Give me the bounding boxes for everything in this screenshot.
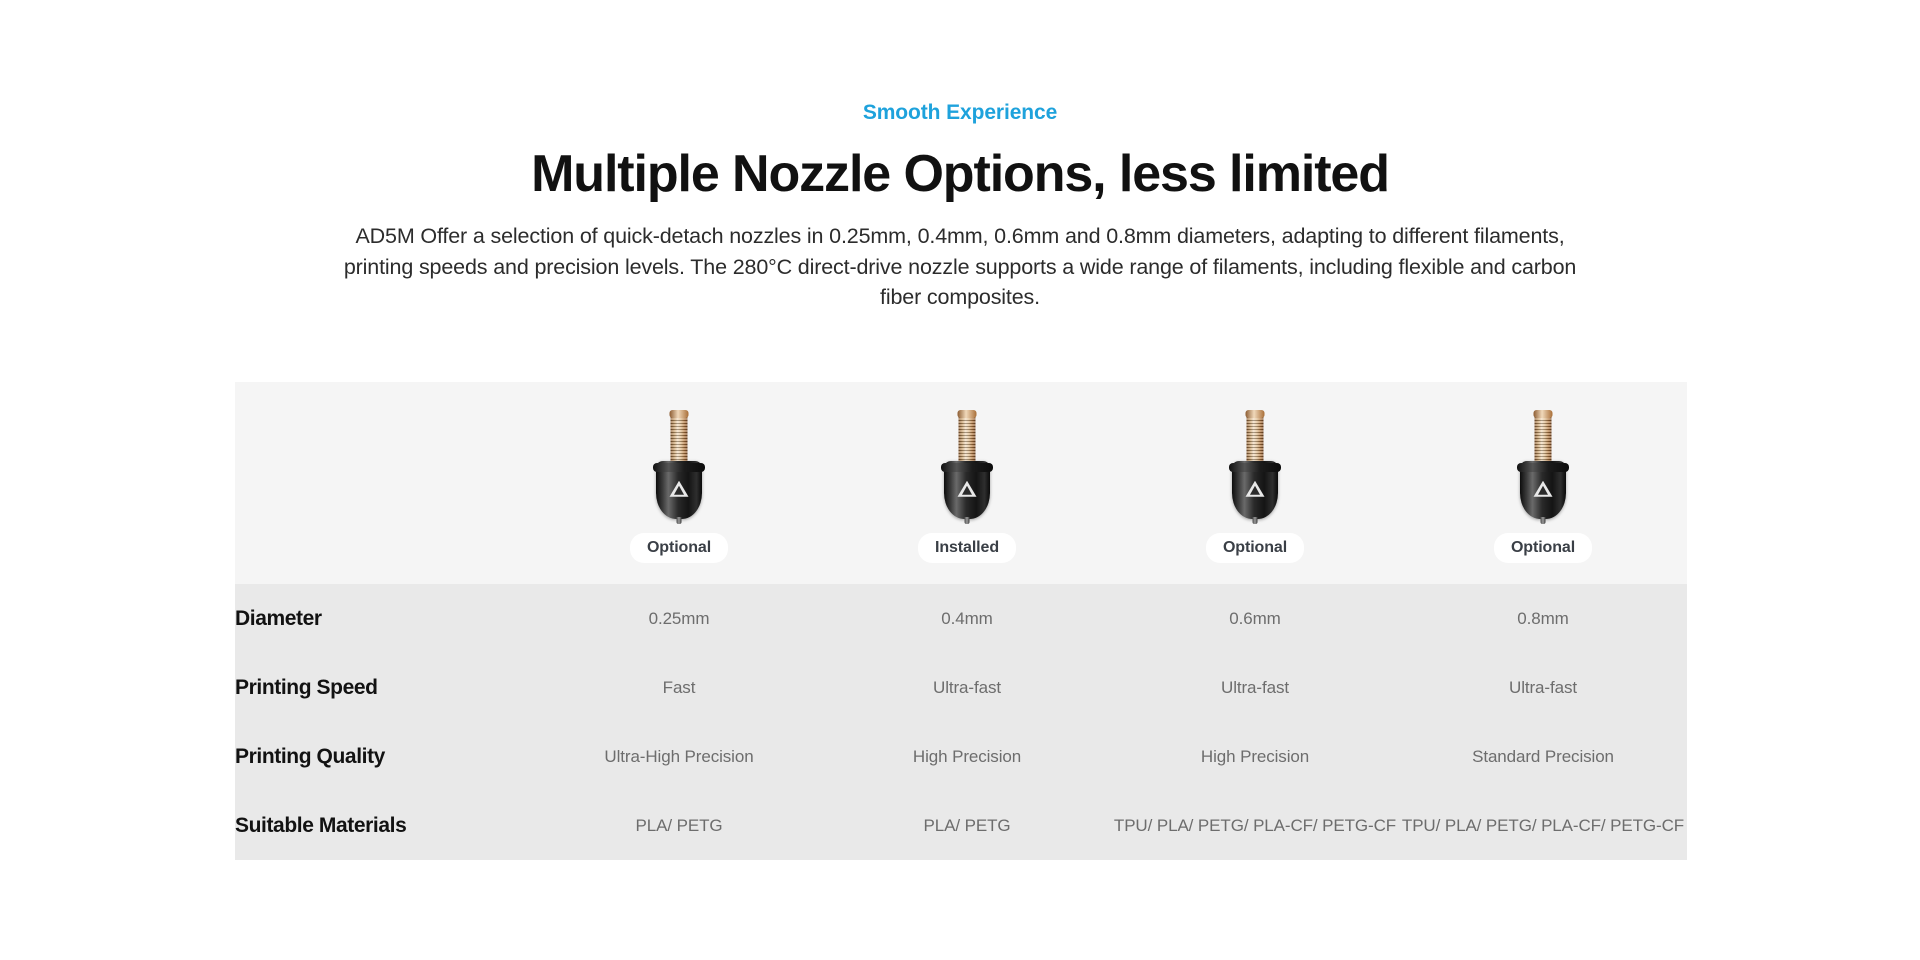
cell-diameter-3: 0.6mm (1111, 584, 1399, 653)
nozzle-comparison-table-container: Optional (235, 382, 1687, 860)
cell-suitable-materials-2: PLA/ PETG (823, 791, 1111, 860)
page-title: Multiple Nozzle Options, less limited (0, 145, 1920, 203)
cell-printing-quality-2: High Precision (823, 722, 1111, 791)
cell-printing-speed-1: Fast (535, 653, 823, 722)
table-row: Printing Quality Ultra-High Precision Hi… (235, 722, 1687, 791)
cell-suitable-materials-3: TPU/ PLA/ PETG/ PLA-CF/ PETG-CF (1111, 791, 1399, 860)
cell-diameter-2: 0.4mm (823, 584, 1111, 653)
status-badge: Optional (630, 533, 728, 564)
nozzle-comparison-table: Optional (235, 382, 1687, 860)
cell-printing-speed-2: Ultra-fast (823, 653, 1111, 722)
cell-printing-speed-3: Ultra-fast (1111, 653, 1399, 722)
status-badge: Optional (1494, 533, 1592, 564)
nozzle-icon (1225, 411, 1285, 523)
row-label-printing-speed: Printing Speed (235, 653, 535, 722)
cell-printing-quality-3: High Precision (1111, 722, 1399, 791)
nozzle-thread-cap-part (1534, 410, 1553, 418)
nozzle-column-header-2: Installed (823, 382, 1111, 584)
nozzle-collar-part (941, 463, 993, 472)
status-badge: Installed (918, 533, 1016, 564)
nozzle-tip-part (677, 517, 682, 524)
nozzle-collar-part (653, 463, 705, 472)
nozzle-column-header-1: Optional (535, 382, 823, 584)
cell-diameter-4: 0.8mm (1399, 584, 1687, 653)
nozzle-column-header-3: Optional (1111, 382, 1399, 584)
cell-printing-quality-1: Ultra-High Precision (535, 722, 823, 791)
section-eyebrow: Smooth Experience (0, 100, 1920, 125)
cell-suitable-materials-4: TPU/ PLA/ PETG/ PLA-CF/ PETG-CF (1399, 791, 1687, 860)
table-header-corner-cell (235, 382, 535, 584)
cell-diameter-1: 0.25mm (535, 584, 823, 653)
table-header-row: Optional (235, 382, 1687, 584)
nozzle-column-header-4: Optional (1399, 382, 1687, 584)
table-row: Diameter 0.25mm 0.4mm 0.6mm 0.8mm (235, 584, 1687, 653)
hero-section: Smooth Experience Multiple Nozzle Option… (0, 0, 1920, 313)
cell-printing-quality-4: Standard Precision (1399, 722, 1687, 791)
nozzle-thread-cap-part (958, 410, 977, 418)
nozzle-icon (937, 411, 997, 523)
table-body: Diameter 0.25mm 0.4mm 0.6mm 0.8mm Printi… (235, 584, 1687, 860)
row-label-diameter: Diameter (235, 584, 535, 653)
nozzle-tip-part (1541, 517, 1546, 524)
cell-suitable-materials-1: PLA/ PETG (535, 791, 823, 860)
nozzle-tip-part (965, 517, 970, 524)
table-row: Printing Speed Fast Ultra-fast Ultra-fas… (235, 653, 1687, 722)
status-badge: Optional (1206, 533, 1304, 564)
cell-printing-speed-4: Ultra-fast (1399, 653, 1687, 722)
nozzle-thread-cap-part (1246, 410, 1265, 418)
row-label-printing-quality: Printing Quality (235, 722, 535, 791)
nozzle-icon (649, 411, 709, 523)
nozzle-thread-cap-part (670, 410, 689, 418)
nozzle-collar-part (1229, 463, 1281, 472)
nozzle-icon (1513, 411, 1573, 523)
table-row: Suitable Materials PLA/ PETG PLA/ PETG T… (235, 791, 1687, 860)
table-header: Optional (235, 382, 1687, 584)
nozzle-collar-part (1517, 463, 1569, 472)
nozzle-comparison-page: Smooth Experience Multiple Nozzle Option… (0, 0, 1920, 960)
nozzle-tip-part (1253, 517, 1258, 524)
row-label-suitable-materials: Suitable Materials (235, 791, 535, 860)
hero-description: AD5M Offer a selection of quick-detach n… (325, 221, 1595, 313)
